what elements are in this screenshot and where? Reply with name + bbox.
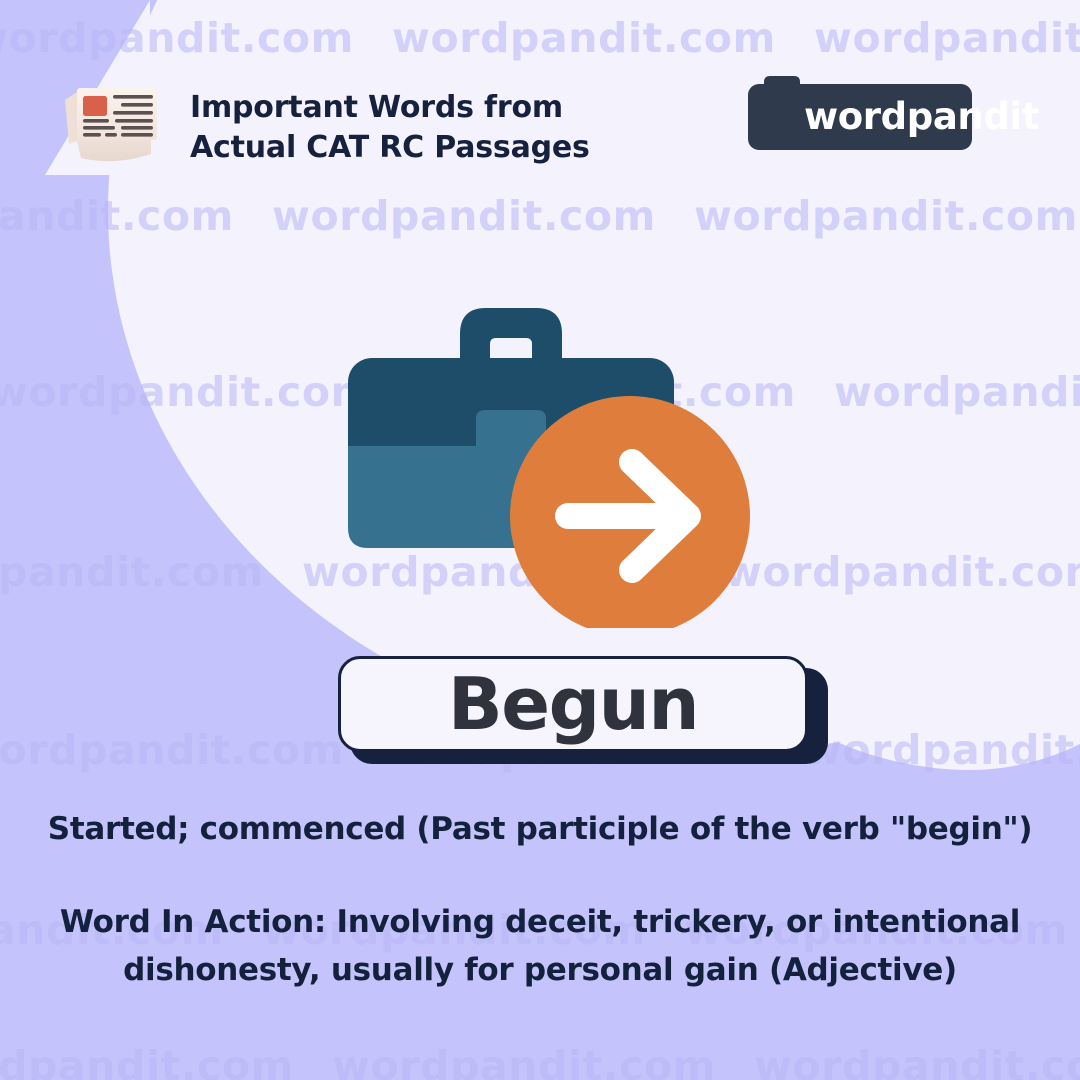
word-in-action-text: Word In Action: Involving deceit, tricke… bbox=[40, 898, 1040, 994]
definition-text: Started; commenced (Past participle of t… bbox=[0, 806, 1080, 853]
page-title-line2: Actual CAT RC Passages bbox=[190, 128, 590, 168]
header: Important Words from Actual CAT RC Passa… bbox=[0, 0, 1080, 190]
newspaper-icon bbox=[55, 66, 177, 166]
brand-logo[interactable]: wordpandit bbox=[748, 84, 972, 150]
vocabulary-word: Begun bbox=[448, 668, 698, 740]
bookmark-icon bbox=[758, 76, 806, 142]
brand-name: wordpandit bbox=[804, 84, 1039, 150]
word-in-action-line2: dishonesty, usually for personal gain (A… bbox=[123, 952, 957, 988]
word-card: Begun bbox=[338, 656, 828, 760]
word-card-face: Begun bbox=[338, 656, 808, 752]
word-in-action-line1: Word In Action: Involving deceit, tricke… bbox=[60, 904, 1020, 940]
poster-canvas: wordpandit.comwordpandit.comwordpandit.c… bbox=[0, 0, 1080, 1080]
briefcase-icon bbox=[340, 248, 760, 628]
page-title: Important Words from Actual CAT RC Passa… bbox=[190, 88, 590, 168]
page-title-line1: Important Words from bbox=[190, 88, 590, 128]
